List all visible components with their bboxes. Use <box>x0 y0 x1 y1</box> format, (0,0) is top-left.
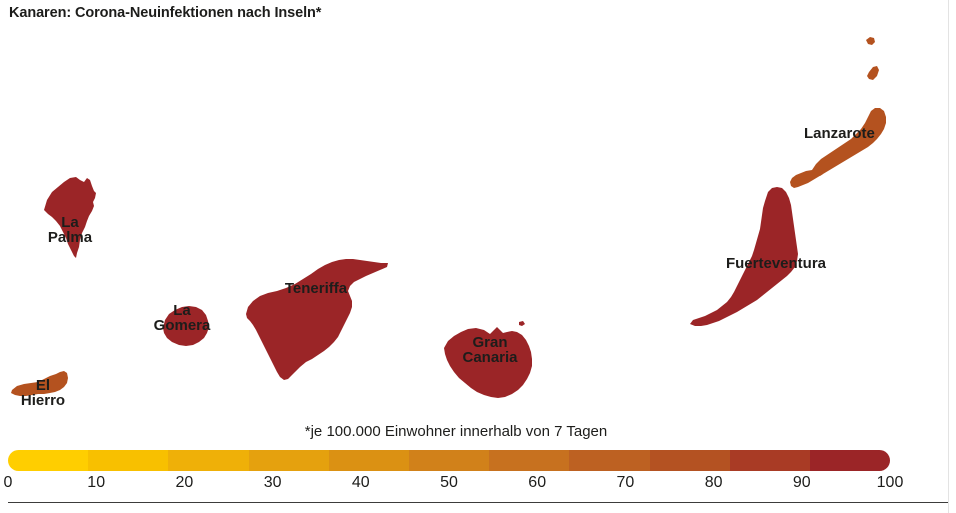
legend-color-segment-8 <box>650 450 730 471</box>
legend-color-segment-6 <box>489 450 569 471</box>
map-area: LaPalma ElHierro LaGomera Teneriffa Gran… <box>0 30 956 415</box>
legend-color-segment-2 <box>168 450 248 471</box>
island-shape-la-palma[interactable] <box>44 177 96 258</box>
footnote: *je 100.000 Einwohner innerhalb von 7 Ta… <box>0 423 956 440</box>
island-shape-el-hierro[interactable] <box>11 371 68 396</box>
legend-color-segment-1 <box>88 450 168 471</box>
chart-title: Kanaren: Corona-Neuinfektionen nach Inse… <box>9 5 321 21</box>
legend-color-segment-7 <box>569 450 649 471</box>
island-shape-teneriffa[interactable] <box>246 259 388 380</box>
legend-color-segment-9 <box>730 450 810 471</box>
legend-color-segment-3 <box>249 450 329 471</box>
island-shape-gran-canaria[interactable] <box>444 327 532 398</box>
legend-colorbar: 0102030405060708090100 <box>0 450 956 498</box>
legend-color-segment-5 <box>409 450 489 471</box>
legend-gradient-bar[interactable] <box>8 450 890 471</box>
legend-tick-40: 40 <box>352 474 370 492</box>
legend-color-segment-4 <box>329 450 409 471</box>
island-shape-lanzarote-islet-north <box>866 37 875 45</box>
legend-tick-50: 50 <box>440 474 458 492</box>
island-shape-lanzarote[interactable] <box>790 108 886 188</box>
legend-color-segment-0 <box>8 450 88 471</box>
island-shape-la-gomera[interactable] <box>163 306 209 346</box>
legend-tick-100: 100 <box>877 474 904 492</box>
legend-tick-70: 70 <box>616 474 634 492</box>
island-shape-lanzarote-islet-mid <box>867 66 879 80</box>
footnote-text: *je 100.000 Einwohner innerhalb von 7 Ta… <box>305 423 607 440</box>
canary-islands-choropleth: Kanaren: Corona-Neuinfektionen nach Inse… <box>0 0 956 513</box>
legend-tick-80: 80 <box>705 474 723 492</box>
legend-tick-20: 20 <box>175 474 193 492</box>
legend-tick-10: 10 <box>87 474 105 492</box>
legend-tick-30: 30 <box>264 474 282 492</box>
legend-tick-0: 0 <box>4 474 13 492</box>
legend-color-segment-10 <box>810 450 890 471</box>
legend-tick-60: 60 <box>528 474 546 492</box>
island-shape-gran-canaria-islet <box>519 321 525 326</box>
right-rule <box>948 0 949 513</box>
legend-tick-labels: 0102030405060708090100 <box>0 474 956 496</box>
islands-map-svg <box>0 30 956 415</box>
bottom-rule <box>8 502 948 503</box>
island-shape-fuerteventura[interactable] <box>690 187 798 326</box>
legend-tick-90: 90 <box>793 474 811 492</box>
